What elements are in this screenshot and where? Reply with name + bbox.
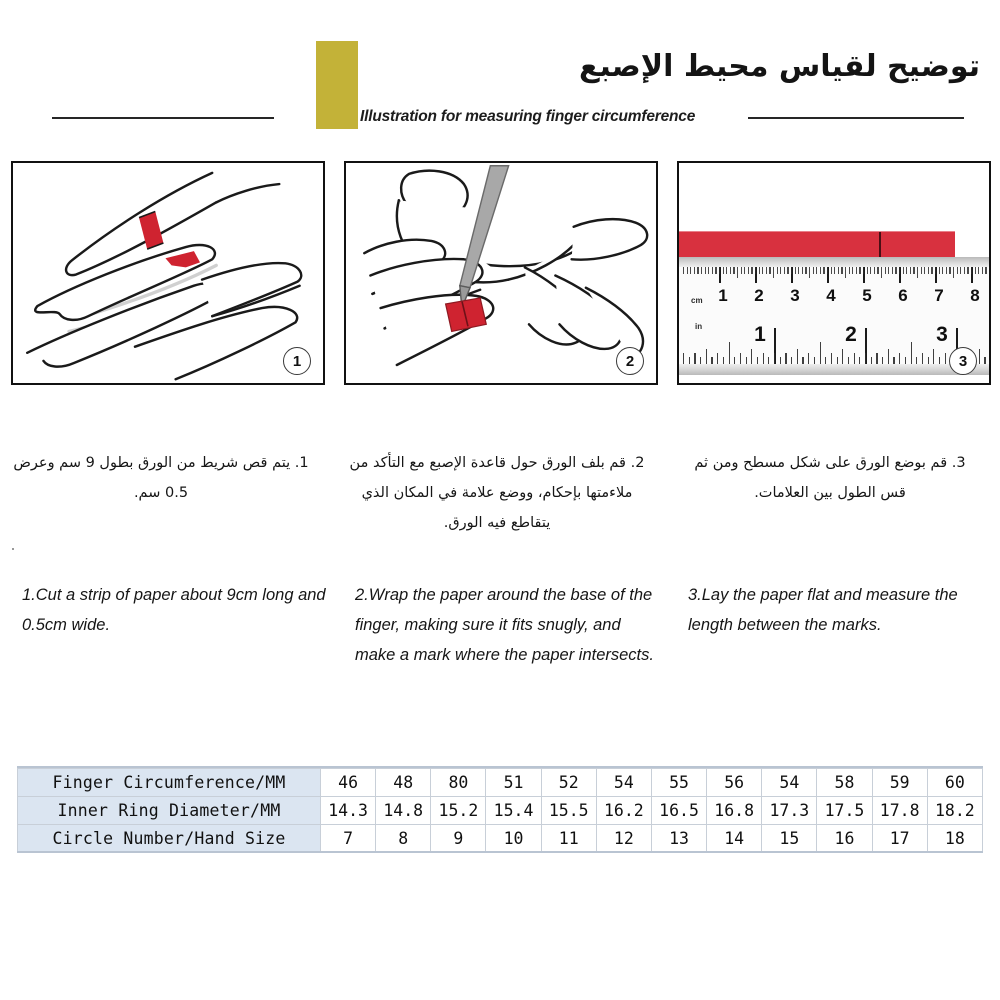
ruler-tick-minor (719, 267, 720, 274)
ruler-tick-minor (726, 267, 727, 274)
ruler-tick-minor (823, 267, 824, 274)
ruler-tick-minor (820, 267, 821, 274)
ruler-tick-minor (877, 267, 878, 274)
table-cell: 15.5 (541, 797, 596, 825)
header-divider-right (748, 117, 964, 119)
table-cell: 17 (872, 825, 927, 853)
ruler-tick-minor (733, 267, 734, 274)
table-cell: 18.2 (927, 797, 982, 825)
table-cell: 56 (707, 769, 762, 797)
ruler-tick-minor (706, 349, 707, 364)
ruler-inch-number: 2 (845, 324, 857, 345)
ruler-tick-minor (741, 267, 742, 274)
ruler-tick-minor (859, 267, 860, 274)
ruler-tick-minor (906, 267, 907, 274)
ruler-cm-number: 3 (790, 287, 799, 304)
table-row-label: Inner Ring Diameter/MM (18, 797, 321, 825)
table-cell: 15 (762, 825, 817, 853)
illustration-panel-2: 2 (344, 161, 658, 385)
ruler-tick-minor (809, 267, 810, 278)
table-cell: 15.2 (431, 797, 486, 825)
ruler-tick-minor (694, 353, 695, 364)
ruler-tick-minor (737, 267, 738, 278)
table-row: Inner Ring Diameter/MM14.314.815.215.415… (18, 797, 983, 825)
pen-marking-finger-icon (346, 163, 656, 383)
ruler-tick-minor (984, 357, 985, 364)
ruler-tick-minor (921, 267, 922, 274)
ruler-cm-number: 5 (862, 287, 871, 304)
ruler-tick-minor (802, 267, 803, 274)
ruler-tick-minor (924, 267, 925, 274)
ruler-tick-minor (705, 267, 706, 274)
ruler-tick-minor (971, 267, 972, 274)
table-cell: 17.3 (762, 797, 817, 825)
ruler-tick-minor (723, 357, 724, 364)
ruler-tick-minor (916, 357, 917, 364)
ruler-cm-number: 7 (934, 287, 943, 304)
table-cell: 18 (927, 825, 982, 853)
ruler-tick-minor (957, 267, 958, 274)
ruler-tick-minor (780, 267, 781, 274)
ruler-tick-minor (740, 353, 741, 364)
table-row-label: Circle Number/Hand Size (18, 825, 321, 853)
ruler-tick-minor (787, 267, 788, 274)
ruler-tick-minor (842, 349, 843, 364)
ruler-tick-minor (831, 353, 832, 364)
header-divider-left (52, 117, 274, 119)
ruler-tick-minor (723, 267, 724, 274)
ruler-tick-minor (960, 267, 961, 274)
ruler-tick-minor (825, 357, 826, 364)
ruler-tick-minor (816, 267, 817, 274)
ruler-tick-minor (979, 349, 980, 364)
ruler-tick-minor (910, 267, 911, 274)
table-cell: 54 (762, 769, 817, 797)
ruler-tick-minor (694, 267, 695, 274)
ruler-tick-minor (762, 267, 763, 274)
ruler-tick-minor (791, 357, 792, 364)
ruler-tick-minor (922, 353, 923, 364)
ruler-tick-minor (939, 267, 940, 274)
ruler-tick-minor (949, 267, 950, 274)
ruler-tick-minor (848, 357, 849, 364)
ruler-tick-minor (814, 357, 815, 364)
ruler-tick-minor (888, 349, 889, 364)
ruler-cm-unit-label: cm (691, 297, 703, 305)
ruler-tick-minor (849, 267, 850, 274)
ruler-tick-minor (795, 267, 796, 274)
table-row-label: Finger Circumference/MM (18, 769, 321, 797)
ring-size-table: Finger Circumference/MM46488051525455565… (17, 768, 983, 853)
ruler-tick-minor (729, 342, 730, 364)
ruler-cm-number: 6 (898, 287, 907, 304)
ruler-tick-minor (813, 267, 814, 274)
ruler-cm-number: 8 (970, 287, 979, 304)
table-cell: 16.2 (596, 797, 651, 825)
ruler-tick-minor (687, 267, 688, 274)
ruler-tick-minor (697, 267, 698, 274)
ruler-tick-minor (802, 357, 803, 364)
ruler-tick-minor (892, 267, 893, 274)
table-row: Circle Number/Hand Size78910111213141516… (18, 825, 983, 853)
paper-strip-mark (879, 232, 881, 258)
ruler-tick-minor (769, 267, 770, 274)
illustration-panel-1: 1 (11, 161, 325, 385)
ruler-tick-minor (882, 357, 883, 364)
ruler-tick-minor (856, 267, 857, 274)
ruler-tick-minor (946, 267, 947, 274)
ruler-tick-minor (763, 353, 764, 364)
ruler-tick-minor (784, 267, 785, 274)
table-cell: 16.8 (707, 797, 762, 825)
ruler: cm 12345678 in 123 (677, 257, 991, 375)
ruler-tick-minor (768, 357, 769, 364)
ruler-tick-minor (837, 357, 838, 364)
ruler-tick-minor (903, 267, 904, 274)
ruler-tick-minor (805, 267, 806, 274)
ruler-tick-minor (766, 267, 767, 274)
ruler-tick-minor (690, 267, 691, 274)
stray-speck (12, 548, 14, 550)
table-cell: 46 (321, 769, 376, 797)
ruler-tick-minor (834, 267, 835, 274)
ruler-tick-minor (755, 267, 756, 274)
table-cell: 14.3 (321, 797, 376, 825)
ruler-tick-minor (865, 353, 866, 364)
table-cell: 48 (376, 769, 431, 797)
ruler-tick-minor (935, 267, 936, 274)
ruler-tick-minor (797, 349, 798, 364)
ruler-inch-scale: in 123 (677, 315, 991, 375)
ruler-tick-minor (895, 267, 896, 274)
ruler-tick-minor (831, 267, 832, 274)
ruler-tick-minor (730, 267, 731, 274)
ruler-tick-minor (867, 267, 868, 274)
ruler-tick-minor (989, 267, 990, 278)
ruler-tick-minor (734, 357, 735, 364)
ruler-tick-minor (712, 267, 713, 274)
instruction-arabic-1: 1. يتم قص شريط من الورق بطول 9 سم وعرض 0… (11, 448, 311, 508)
ruler-tick-minor (689, 357, 690, 364)
ruler-tick-minor (808, 353, 809, 364)
ruler-tick-minor (928, 357, 929, 364)
table-bottom-edge (17, 851, 983, 853)
ruler-tick-minor (931, 267, 932, 274)
ruler-tick-minor (953, 267, 954, 278)
ruler-tick-minor (773, 267, 774, 278)
ruler-tick-minor (985, 267, 986, 274)
ruler-tick-minor (701, 267, 702, 274)
ruler-tick-minor (751, 267, 752, 274)
table-cell: 9 (431, 825, 486, 853)
ruler-tick-minor (852, 267, 853, 274)
ruler-tick-minor (881, 267, 882, 278)
ruler-tick-minor (913, 267, 914, 274)
instruction-arabic-3: 3. قم بوضع الورق على شكل مسطح ومن ثم قس … (680, 448, 980, 508)
ruler-tick-minor (854, 353, 855, 364)
table-cell: 10 (486, 825, 541, 853)
ruler-inch-edge-band (677, 364, 991, 375)
ruler-tick-minor (942, 267, 943, 274)
ruler-tick-minor (945, 353, 946, 364)
ruler-tick-minor (759, 267, 760, 274)
table-cell: 15.4 (486, 797, 541, 825)
table-cell: 14 (707, 825, 762, 853)
table-cell: 17.8 (872, 797, 927, 825)
ruler-tick-minor (967, 267, 968, 274)
ruler-tick-minor (774, 353, 775, 364)
ruler-cm-number: 1 (718, 287, 727, 304)
instruction-english-1: 1.Cut a strip of paper about 9cm long an… (22, 580, 328, 640)
table-cell: 59 (872, 769, 927, 797)
ruler-tick-minor (700, 357, 701, 364)
ruler-tick-minor (978, 267, 979, 274)
gold-accent-bar (316, 41, 358, 129)
ruler-tick-minor (746, 357, 747, 364)
table-cell: 16.5 (651, 797, 706, 825)
table-cell: 11 (541, 825, 596, 853)
ruler-tick-minor (870, 267, 871, 274)
ruler-tick-minor (711, 357, 712, 364)
ruler-tick-minor (876, 353, 877, 364)
table-cell: 7 (321, 825, 376, 853)
ruler-cm-number: 2 (754, 287, 763, 304)
ruler-tick-minor (939, 357, 940, 364)
ruler-tick-minor (917, 267, 918, 278)
ruler-tick-minor (863, 267, 864, 274)
ruler-tick-minor (715, 267, 716, 274)
hand-with-paper-strip-icon (13, 163, 323, 383)
ruler-tick-minor (777, 267, 778, 274)
table-cell: 80 (431, 769, 486, 797)
panel-badge-2: 2 (616, 347, 644, 375)
ruler-cm-scale: cm 12345678 (677, 257, 991, 316)
ruler-tick-minor (905, 357, 906, 364)
table-cell: 51 (486, 769, 541, 797)
ruler-tick-minor (683, 353, 684, 364)
ruler-tick-minor (748, 267, 749, 274)
ruler-tick-minor (859, 357, 860, 364)
ruler-tick-minor (791, 267, 792, 274)
table-cell: 16 (817, 825, 872, 853)
table-row: Finger Circumference/MM46488051525455565… (18, 769, 983, 797)
ruler-tick-minor (899, 353, 900, 364)
paper-strip (679, 231, 955, 258)
ruler-inch-number: 1 (754, 324, 766, 345)
ruler-tick-minor (708, 267, 709, 274)
table-cell: 17.5 (817, 797, 872, 825)
ruler-tick-minor (928, 267, 929, 274)
ruler-tick-minor (785, 353, 786, 364)
table-cell: 13 (651, 825, 706, 853)
table-cell: 52 (541, 769, 596, 797)
table-cell: 54 (596, 769, 651, 797)
table-cell: 55 (651, 769, 706, 797)
ruler-inch-number: 3 (936, 324, 948, 345)
ruler-tick-minor (871, 357, 872, 364)
ruler-tick-minor (982, 267, 983, 274)
ruler-tick-minor (841, 267, 842, 274)
ruler-tick-minor (780, 357, 781, 364)
ruler-tick-minor (827, 267, 828, 274)
ruler-tick-minor (751, 349, 752, 364)
table-cell: 14.8 (376, 797, 431, 825)
ruler-tick-minor (899, 267, 900, 274)
ruler-tick-minor (885, 267, 886, 274)
ruler-tick-minor (933, 349, 934, 364)
ruler-cm-number: 4 (826, 287, 835, 304)
ruler-tick-minor (757, 357, 758, 364)
ruler-tick-minor (893, 357, 894, 364)
ruler-tick-minor (820, 342, 821, 364)
ruler-tick-minor (975, 267, 976, 274)
page-title-arabic: توضيح لقياس محيط الإصبع (360, 48, 980, 86)
ruler-tick-minor (964, 267, 965, 274)
table-cell: 58 (817, 769, 872, 797)
ruler-tick-minor (845, 267, 846, 278)
illustration-panel-3: cm 12345678 in 123 3 (677, 161, 991, 385)
table-cell: 12 (596, 825, 651, 853)
ruler-tick-minor (990, 353, 991, 364)
instruction-english-3: 3.Lay the paper flat and measure the len… (688, 580, 994, 640)
ruler-tick-minor (838, 267, 839, 274)
instruction-english-2: 2.Wrap the paper around the base of the … (355, 580, 661, 670)
table-cell: 8 (376, 825, 431, 853)
ruler-inch-unit-label: in (695, 323, 702, 331)
table-cell: 60 (927, 769, 982, 797)
ruler-tick-minor (683, 267, 684, 274)
ruler-tick-minor (744, 267, 745, 274)
ruler-tick-minor (874, 267, 875, 274)
ruler-cm-edge-band (677, 257, 991, 267)
ruler-tick-minor (798, 267, 799, 274)
ruler-tick-minor (911, 342, 912, 364)
ruler-tick-minor (888, 267, 889, 274)
instruction-arabic-2: 2. قم بلف الورق حول قاعدة الإصبع مع التأ… (347, 448, 647, 538)
page-header: توضيح لقياس محيط الإصبع Illustration for… (0, 0, 1000, 150)
panel-badge-3: 3 (949, 347, 977, 375)
ruler-tick-minor (717, 353, 718, 364)
panel-badge-1: 1 (283, 347, 311, 375)
